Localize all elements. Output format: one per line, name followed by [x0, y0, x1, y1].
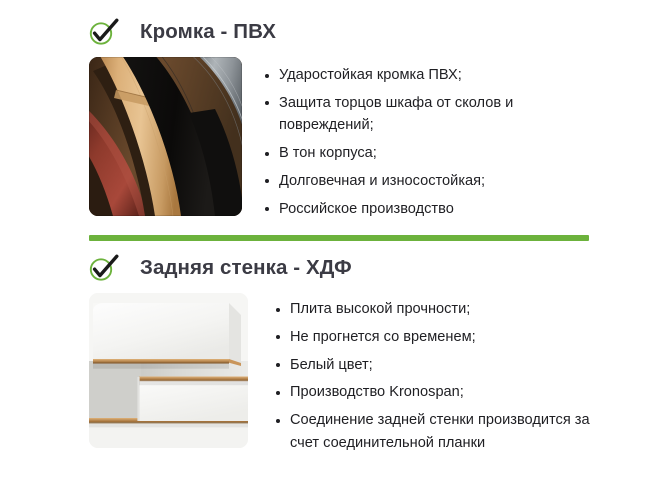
- check-circle-icon: [88, 253, 122, 283]
- section-divider: [89, 235, 589, 241]
- section-title: Кромка - ПВХ: [140, 22, 276, 43]
- section-body-hdf-back: Плита высокой прочности; Не прогнется со…: [0, 293, 652, 460]
- section-body-pvc-edge: Ударостойкая кромка ПВХ; Защита торцов ш…: [0, 57, 652, 226]
- list-item: Российское производство: [265, 198, 609, 221]
- section-pvc-edge: Кромка - ПВХ: [0, 14, 652, 226]
- list-item: Не прогнется со временем;: [276, 326, 620, 349]
- section-title: Задняя стенка - ХДФ: [140, 258, 352, 279]
- pvc-edge-banding-photo: [89, 57, 242, 216]
- section-heading-pvc-edge: Кромка - ПВХ: [0, 14, 652, 50]
- list-item: Производство Kronospan;: [276, 381, 620, 404]
- section-heading-hdf-back: Задняя стенка - ХДФ: [0, 250, 652, 286]
- list-item: Соединение задней стенки производится за…: [276, 409, 620, 454]
- list-item: Ударостойкая кромка ПВХ;: [265, 64, 609, 87]
- check-circle-icon: [88, 17, 122, 47]
- list-item: Плита высокой прочности;: [276, 298, 620, 321]
- feature-list-hdf-back: Плита высокой прочности; Не прогнется со…: [276, 298, 652, 460]
- section-hdf-back: Задняя стенка - ХДФ: [0, 250, 652, 460]
- list-item: Защита торцов шкафа от сколов и поврежде…: [265, 92, 609, 137]
- list-item: Белый цвет;: [276, 354, 620, 377]
- feature-list-pvc-edge: Ударостойкая кромка ПВХ; Защита торцов ш…: [265, 64, 652, 226]
- list-item: Долговечная и износостойкая;: [265, 170, 609, 193]
- hdf-back-panel-photo: [89, 293, 248, 448]
- list-item: В тон корпуса;: [265, 142, 609, 165]
- materials-feature-page: Кромка - ПВХ: [0, 0, 652, 500]
